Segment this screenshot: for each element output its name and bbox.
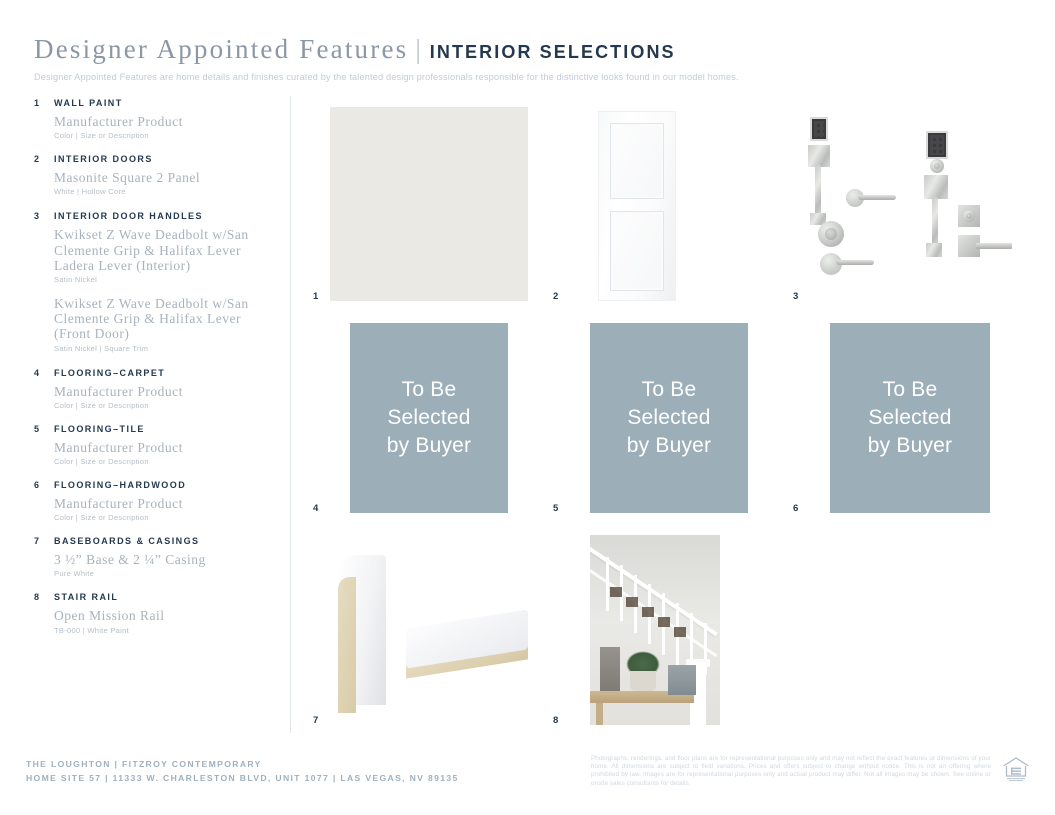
baseboard-casing-image [324,547,534,717]
gallery-cell-number: 4 [313,504,319,514]
gallery-cell-number: 1 [313,292,319,302]
spec-header: 2 INTERIOR DOORS [34,154,274,164]
deadbolt-cylinder-front [930,159,944,173]
stair-rail-photo [590,535,720,725]
footer-disclaimer: Photographs, renderings, and floor plans… [591,755,991,788]
specification-list: 1 WALL PAINT Manufacturer Product Color … [34,98,274,635]
spec-header: 5 FLOORING–TILE [34,424,274,434]
selection-gallery: 1 2 3 [306,96,1026,725]
page-footer: THE LOUGHTON | FITZROY CONTEMPORARY HOME… [0,735,1055,815]
spec-description: Color | Size or Description [54,131,274,140]
spec-body: Manufacturer Product Color | Size or Des… [54,114,274,140]
spec-item-stair-rail: 8 STAIR RAIL Open Mission Rail TB-000 | … [34,592,274,634]
spec-category: BASEBOARDS & CASINGS [54,536,200,546]
decor-bucket [668,665,696,695]
spec-product: Kwikset Z Wave Deadbolt w/San Clemente G… [54,296,274,342]
spec-header: 3 INTERIOR DOOR HANDLES [34,211,274,221]
baseboard-illustration [324,547,534,717]
to-be-selected-placeholder: To Be Selected by Buyer [350,323,508,513]
square-lever-handle [976,243,1012,249]
spec-number: 4 [34,368,54,378]
door-hardware-image [800,107,1015,301]
spec-description: Color | Size or Description [54,457,274,466]
gallery-row: 7 8 [306,513,1026,725]
spec-description: Color | Size or Description [54,513,274,522]
spec-item-flooring-carpet: 4 FLOORING–CARPET Manufacturer Product C… [34,368,274,410]
spec-category: FLOORING–TILE [54,424,145,434]
keypad-deadbolt-front-icon [926,131,948,159]
gallery-cell-wall-paint: 1 [306,96,546,301]
door-hardware-illustration [800,107,1015,301]
gallery-cell-number: 7 [313,716,319,726]
spec-product: Manufacturer Product [54,440,274,455]
paint-swatch-image [330,107,528,301]
door-panel-lower [610,211,664,291]
column-divider [290,96,291,733]
grip-handle-bar [815,165,821,217]
spec-item-flooring-tile: 5 FLOORING–TILE Manufacturer Product Col… [34,424,274,466]
spec-description: Satin Nickel [54,275,274,284]
stair-tread-shadow [626,597,638,607]
console-table-leg [596,703,603,725]
spec-body: Masonite Square 2 Panel White | Hollow C… [54,170,274,196]
spec-category: WALL PAINT [54,98,123,108]
placeholder-image: To Be Selected by Buyer [830,323,990,513]
decor-plant [626,651,660,673]
spec-header: 6 FLOORING–HARDWOOD [34,480,274,490]
spec-category: STAIR RAIL [54,592,118,602]
spec-description: Satin Nickel | Square Trim [54,344,274,353]
door-illustration [570,107,768,301]
spec-product: 3 ½” Base & 2 ¼” Casing [54,552,274,567]
stair-tread-shadow [674,627,686,637]
footer-community-info: THE LOUGHTON | FITZROY CONTEMPORARY HOME… [26,757,459,785]
spec-product: Kwikset Z Wave Deadbolt w/San Clemente G… [54,227,274,273]
spec-product: Masonite Square 2 Panel [54,170,274,185]
front-grip-foot [926,243,942,257]
gallery-cell-number: 6 [793,504,799,514]
gallery-row: 4 To Be Selected by Buyer 5 To Be Select… [306,301,1026,513]
lever-handle-upper [858,195,896,200]
spec-body: Manufacturer Product Color | Size or Des… [54,440,274,466]
spec-product: Manufacturer Product [54,496,274,511]
spec-number: 6 [34,480,54,490]
baluster [606,557,609,611]
gallery-cell-flooring-carpet: 4 To Be Selected by Buyer [306,301,546,513]
page-title-primary: Designer Appointed Features [34,34,408,65]
decor-plant-pot [630,671,656,691]
spec-description: TB-000 | White Paint [54,626,274,635]
gallery-cell-baseboards: 7 [306,513,546,725]
spec-header: 4 FLOORING–CARPET [34,368,274,378]
gallery-cell-number: 8 [553,716,559,726]
to-be-selected-placeholder: To Be Selected by Buyer [590,323,748,513]
gallery-cell-number: 3 [793,292,799,302]
gallery-cell-number: 5 [553,504,559,514]
spec-header: 1 WALL PAINT [34,98,274,108]
page-title-secondary: INTERIOR SELECTIONS [430,42,676,63]
stair-tread-shadow [642,607,654,617]
door-image [570,107,768,301]
gallery-cell-flooring-tile: 5 To Be Selected by Buyer [546,301,786,513]
page-title-divider: | [415,34,420,65]
thumbturn-icon [963,210,975,222]
spec-number: 1 [34,98,54,108]
spec-number: 5 [34,424,54,434]
spec-body: Open Mission Rail TB-000 | White Paint [54,608,274,634]
spec-number: 8 [34,592,54,602]
grip-handle-plate [808,145,830,167]
spec-item-interior-door-handles: 3 INTERIOR DOOR HANDLES Kwikset Z Wave D… [34,211,274,352]
spec-header: 8 STAIR RAIL [34,592,274,602]
door-slab [598,111,676,301]
spec-category: INTERIOR DOOR HANDLES [54,211,203,221]
gallery-cell-stair-rail: 8 [546,513,786,725]
spec-category: FLOORING–HARDWOOD [54,480,186,490]
spec-item-flooring-hardwood: 6 FLOORING–HARDWOOD Manufacturer Product… [34,480,274,522]
lever-handle-lower [836,260,874,265]
spec-body: Kwikset Z Wave Deadbolt w/San Clemente G… [54,227,274,352]
spec-product: Manufacturer Product [54,384,274,399]
decor-lantern [600,647,620,691]
to-be-selected-placeholder: To Be Selected by Buyer [830,323,990,513]
gallery-cell-door-hardware: 3 [786,96,1026,301]
gallery-cell-interior-door: 2 [546,96,786,301]
spec-product: Open Mission Rail [54,608,274,623]
spec-number: 2 [34,154,54,164]
page-header: Designer Appointed Features | INTERIOR S… [34,34,1024,82]
stair-tread-shadow [610,587,622,597]
spec-product: Manufacturer Product [54,114,274,129]
spacer [54,284,274,296]
footer-address-line: HOME SITE 57 | 11333 W. CHARLESTON BLVD,… [26,771,459,785]
front-grip-bar [932,197,938,247]
spec-number: 3 [34,211,54,221]
interior-selections-page: Designer Appointed Features | INTERIOR S… [0,0,1055,815]
placeholder-image: To Be Selected by Buyer [590,323,748,513]
spec-item-interior-doors: 2 INTERIOR DOORS Masonite Square 2 Panel… [34,154,274,196]
paint-swatch-color [330,107,528,301]
page-title: Designer Appointed Features | INTERIOR S… [34,34,1024,65]
spec-body: 3 ½” Base & 2 ¼” Casing Pure White [54,552,274,578]
spec-category: FLOORING–CARPET [54,368,165,378]
placeholder-image: To Be Selected by Buyer [350,323,508,513]
stair-rail-illustration [590,535,720,725]
gallery-cell-flooring-hardwood: 6 To Be Selected by Buyer [786,301,1026,513]
keypad-deadbolt-icon [810,117,828,141]
baseboard-mdf-core [338,577,356,713]
gallery-cell-number: 2 [553,292,559,302]
spec-item-wall-paint: 1 WALL PAINT Manufacturer Product Color … [34,98,274,140]
spec-number: 7 [34,536,54,546]
spec-body: Manufacturer Product Color | Size or Des… [54,496,274,522]
spec-category: INTERIOR DOORS [54,154,153,164]
baseboard-profile [338,555,386,705]
spec-header: 7 BASEBOARDS & CASINGS [34,536,274,546]
spec-description: Color | Size or Description [54,401,274,410]
footer-community-line: THE LOUGHTON | FITZROY CONTEMPORARY [26,757,459,771]
spec-body: Manufacturer Product Color | Size or Des… [54,384,274,410]
spec-description: Pure White [54,569,274,578]
gallery-row: 1 2 3 [306,96,1026,301]
gallery-cell-empty [786,513,1026,725]
equal-housing-opportunity-icon [1001,754,1031,784]
front-grip-plate [924,175,948,199]
spec-item-baseboards-casings: 7 BASEBOARDS & CASINGS 3 ½” Base & 2 ¼” … [34,536,274,578]
spec-description: White | Hollow Core [54,187,274,196]
door-panel-upper [610,123,664,199]
stair-tread-shadow [658,617,670,627]
deadbolt-knob-icon [818,221,844,247]
page-subtitle: Designer Appointed Features are home det… [34,72,1024,82]
